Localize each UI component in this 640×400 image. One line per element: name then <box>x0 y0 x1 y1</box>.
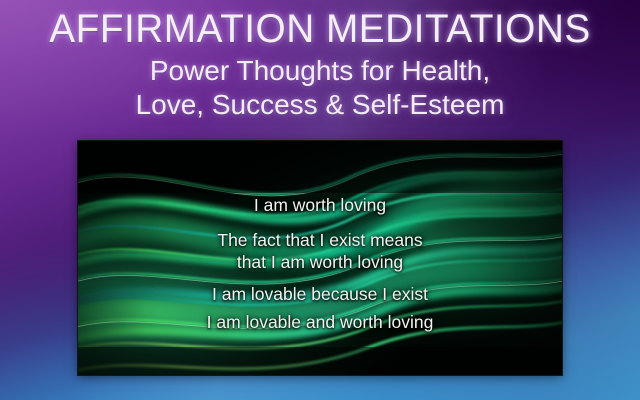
affirmation-line: The fact that I exist means <box>78 229 562 251</box>
affirmation-text-block: I am worth loving The fact that I exist … <box>78 141 562 375</box>
subtitle-line-1: Power Thoughts for Health, <box>0 55 640 86</box>
subtitle-line-2: Love, Success & Self-Esteem <box>0 89 640 120</box>
affirmation-group-2: The fact that I exist means that I am wo… <box>78 229 562 273</box>
affirmation-line: I am lovable because I exist <box>78 283 562 305</box>
affirmation-line: I am worth loving <box>78 194 562 216</box>
page-title: AFFIRMATION MEDITATIONS <box>10 6 631 52</box>
affirmation-line: that I am worth loving <box>78 251 562 273</box>
affirmation-group-3: I am lovable because I exist <box>78 283 562 305</box>
affirmation-group-4: I am lovable and worth loving <box>78 311 562 333</box>
affirmation-group-1: I am worth loving <box>78 194 562 216</box>
affirmation-meditations-slide: AFFIRMATION MEDITATIONS Power Thoughts f… <box>0 0 640 400</box>
affirmation-line: I am lovable and worth loving <box>78 311 562 333</box>
heading-block: AFFIRMATION MEDITATIONS Power Thoughts f… <box>0 6 640 120</box>
video-panel: I am worth loving The fact that I exist … <box>78 141 562 375</box>
